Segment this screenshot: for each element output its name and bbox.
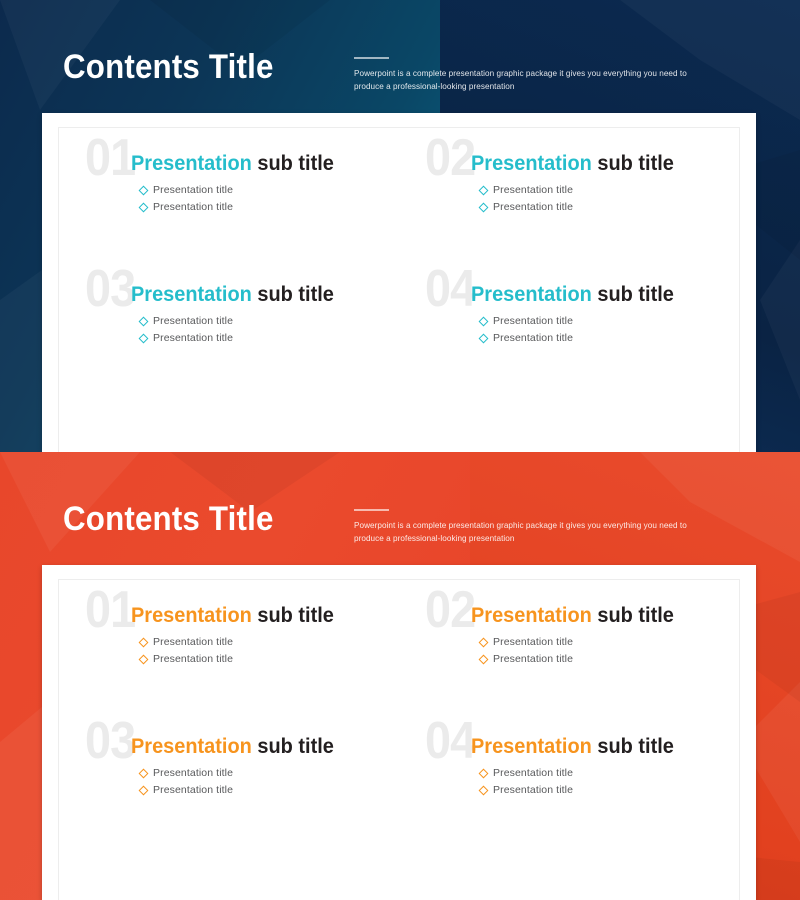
- list-item[interactable]: Presentation title: [140, 782, 399, 799]
- diamond-bullet-icon: [139, 769, 149, 779]
- list-item[interactable]: Presentation title: [480, 765, 739, 782]
- item-title: Presentation sub title: [131, 283, 386, 307]
- page-title: Contents Title: [63, 48, 274, 86]
- item-body: Presentation sub title Presentation titl…: [429, 259, 739, 347]
- content-item[interactable]: 02 Presentation sub title Presentation t…: [399, 580, 739, 711]
- item-title-accent: Presentation: [471, 604, 592, 627]
- list-item-label: Presentation title: [153, 782, 233, 799]
- content-item[interactable]: 01 Presentation sub title Presentation t…: [59, 128, 399, 259]
- list-item[interactable]: Presentation title: [140, 634, 399, 651]
- diamond-bullet-icon: [479, 203, 489, 213]
- slide-header: Contents Title Powerpoint is a complete …: [63, 500, 740, 544]
- item-title-plain: sub title: [592, 283, 674, 306]
- list-item-label: Presentation title: [493, 651, 573, 668]
- item-title-accent: Presentation: [471, 735, 592, 758]
- list-item[interactable]: Presentation title: [480, 330, 739, 347]
- header-description-block: Powerpoint is a complete presentation gr…: [354, 57, 726, 92]
- item-body: Presentation sub title Presentation titl…: [429, 580, 739, 668]
- diamond-bullet-icon: [139, 638, 149, 648]
- slide-description: Powerpoint is a complete presentation gr…: [354, 67, 707, 92]
- list-item-label: Presentation title: [493, 313, 573, 330]
- list-item[interactable]: Presentation title: [480, 634, 739, 651]
- contents-grid: 01 Presentation sub title Presentation t…: [59, 580, 739, 842]
- slide-blue: Contents Title Powerpoint is a complete …: [0, 0, 800, 452]
- content-item[interactable]: 01 Presentation sub title Presentation t…: [59, 580, 399, 711]
- item-body: Presentation sub title Presentation titl…: [89, 259, 399, 347]
- diamond-bullet-icon: [139, 186, 149, 196]
- item-bullet-list: Presentation title Presentation title: [131, 182, 399, 216]
- item-bullet-list: Presentation title Presentation title: [131, 765, 399, 799]
- header-description-block: Powerpoint is a complete presentation gr…: [354, 509, 726, 544]
- list-item-label: Presentation title: [493, 782, 573, 799]
- diamond-bullet-icon: [139, 203, 149, 213]
- item-bullet-list: Presentation title Presentation title: [471, 634, 739, 668]
- item-title: Presentation sub title: [131, 152, 386, 176]
- diamond-bullet-icon: [139, 334, 149, 344]
- list-item-label: Presentation title: [153, 313, 233, 330]
- list-item-label: Presentation title: [153, 651, 233, 668]
- content-card-frame: 01 Presentation sub title Presentation t…: [58, 579, 740, 900]
- title-divider-rule: [354, 509, 389, 511]
- item-body: Presentation sub title Presentation titl…: [89, 580, 399, 668]
- title-divider-rule: [354, 57, 389, 59]
- item-bullet-list: Presentation title Presentation title: [471, 765, 739, 799]
- content-card: 01 Presentation sub title Presentation t…: [42, 113, 756, 452]
- slide-preview-page: Contents Title Powerpoint is a complete …: [0, 0, 800, 900]
- item-title: Presentation sub title: [471, 735, 726, 759]
- diamond-bullet-icon: [479, 655, 489, 665]
- item-body: Presentation sub title Presentation titl…: [429, 128, 739, 216]
- item-title-plain: sub title: [592, 152, 674, 175]
- list-item[interactable]: Presentation title: [140, 765, 399, 782]
- item-title-accent: Presentation: [131, 152, 252, 175]
- content-item[interactable]: 04 Presentation sub title Presentation t…: [399, 259, 739, 390]
- content-card: 01 Presentation sub title Presentation t…: [42, 565, 756, 900]
- item-title-accent: Presentation: [131, 735, 252, 758]
- item-title: Presentation sub title: [131, 604, 386, 628]
- item-body: Presentation sub title Presentation titl…: [89, 711, 399, 799]
- diamond-bullet-icon: [479, 334, 489, 344]
- page-title: Contents Title: [63, 500, 274, 538]
- list-item[interactable]: Presentation title: [140, 182, 399, 199]
- list-item-label: Presentation title: [493, 330, 573, 347]
- item-title-plain: sub title: [252, 152, 334, 175]
- list-item[interactable]: Presentation title: [140, 651, 399, 668]
- diamond-bullet-icon: [479, 638, 489, 648]
- item-bullet-list: Presentation title Presentation title: [471, 313, 739, 347]
- list-item[interactable]: Presentation title: [480, 182, 739, 199]
- content-card-frame: 01 Presentation sub title Presentation t…: [58, 127, 740, 452]
- diamond-bullet-icon: [479, 769, 489, 779]
- slide-description: Powerpoint is a complete presentation gr…: [354, 519, 707, 544]
- list-item[interactable]: Presentation title: [480, 199, 739, 216]
- content-item[interactable]: 03 Presentation sub title Presentation t…: [59, 711, 399, 842]
- content-item[interactable]: 03 Presentation sub title Presentation t…: [59, 259, 399, 390]
- item-title: Presentation sub title: [131, 735, 386, 759]
- item-body: Presentation sub title Presentation titl…: [89, 128, 399, 216]
- item-title-plain: sub title: [252, 604, 334, 627]
- list-item-label: Presentation title: [153, 634, 233, 651]
- list-item-label: Presentation title: [493, 634, 573, 651]
- item-title: Presentation sub title: [471, 283, 726, 307]
- slide-header: Contents Title Powerpoint is a complete …: [63, 48, 740, 92]
- list-item-label: Presentation title: [153, 199, 233, 216]
- item-bullet-list: Presentation title Presentation title: [131, 634, 399, 668]
- list-item[interactable]: Presentation title: [140, 313, 399, 330]
- list-item-label: Presentation title: [493, 765, 573, 782]
- item-title-plain: sub title: [592, 735, 674, 758]
- list-item-label: Presentation title: [153, 182, 233, 199]
- item-title-plain: sub title: [592, 604, 674, 627]
- diamond-bullet-icon: [479, 317, 489, 327]
- list-item-label: Presentation title: [493, 182, 573, 199]
- item-title: Presentation sub title: [471, 604, 726, 628]
- list-item[interactable]: Presentation title: [480, 313, 739, 330]
- diamond-bullet-icon: [139, 317, 149, 327]
- list-item-label: Presentation title: [153, 765, 233, 782]
- item-title-accent: Presentation: [471, 152, 592, 175]
- item-title-plain: sub title: [252, 735, 334, 758]
- slide-red: Contents Title Powerpoint is a complete …: [0, 452, 800, 900]
- diamond-bullet-icon: [139, 655, 149, 665]
- item-title-accent: Presentation: [131, 283, 252, 306]
- list-item-label: Presentation title: [493, 199, 573, 216]
- item-title: Presentation sub title: [471, 152, 726, 176]
- item-bullet-list: Presentation title Presentation title: [131, 313, 399, 347]
- item-title-plain: sub title: [252, 283, 334, 306]
- diamond-bullet-icon: [139, 786, 149, 796]
- diamond-bullet-icon: [479, 786, 489, 796]
- list-item[interactable]: Presentation title: [140, 330, 399, 347]
- content-item[interactable]: 04 Presentation sub title Presentation t…: [399, 711, 739, 842]
- list-item[interactable]: Presentation title: [480, 782, 739, 799]
- item-bullet-list: Presentation title Presentation title: [471, 182, 739, 216]
- item-title-accent: Presentation: [471, 283, 592, 306]
- item-body: Presentation sub title Presentation titl…: [429, 711, 739, 799]
- diamond-bullet-icon: [479, 186, 489, 196]
- contents-grid: 01 Presentation sub title Presentation t…: [59, 128, 739, 390]
- list-item[interactable]: Presentation title: [140, 199, 399, 216]
- list-item-label: Presentation title: [153, 330, 233, 347]
- item-title-accent: Presentation: [131, 604, 252, 627]
- list-item[interactable]: Presentation title: [480, 651, 739, 668]
- content-item[interactable]: 02 Presentation sub title Presentation t…: [399, 128, 739, 259]
